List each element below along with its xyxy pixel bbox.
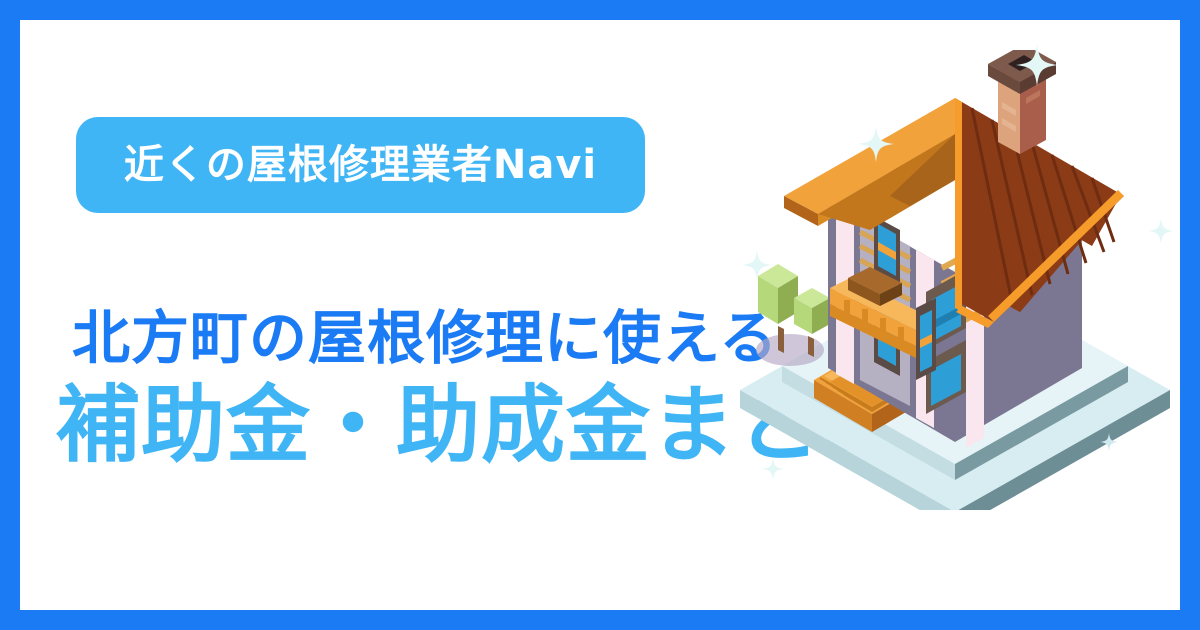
ogp-banner: 近くの屋根修理業者Navi 北方町の屋根修理に使える 補助金・助成金まとめ <box>0 0 1200 630</box>
banner-canvas: 近くの屋根修理業者Navi 北方町の屋根修理に使える 補助金・助成金まとめ <box>20 20 1180 610</box>
site-name-label: 近くの屋根修理業者Navi <box>124 145 597 185</box>
front-door <box>916 298 936 380</box>
site-name-badge: 近くの屋根修理業者Navi <box>76 117 645 213</box>
chimney <box>988 50 1056 154</box>
isometric-house-illustration <box>720 50 1180 510</box>
tree-group <box>756 264 830 366</box>
